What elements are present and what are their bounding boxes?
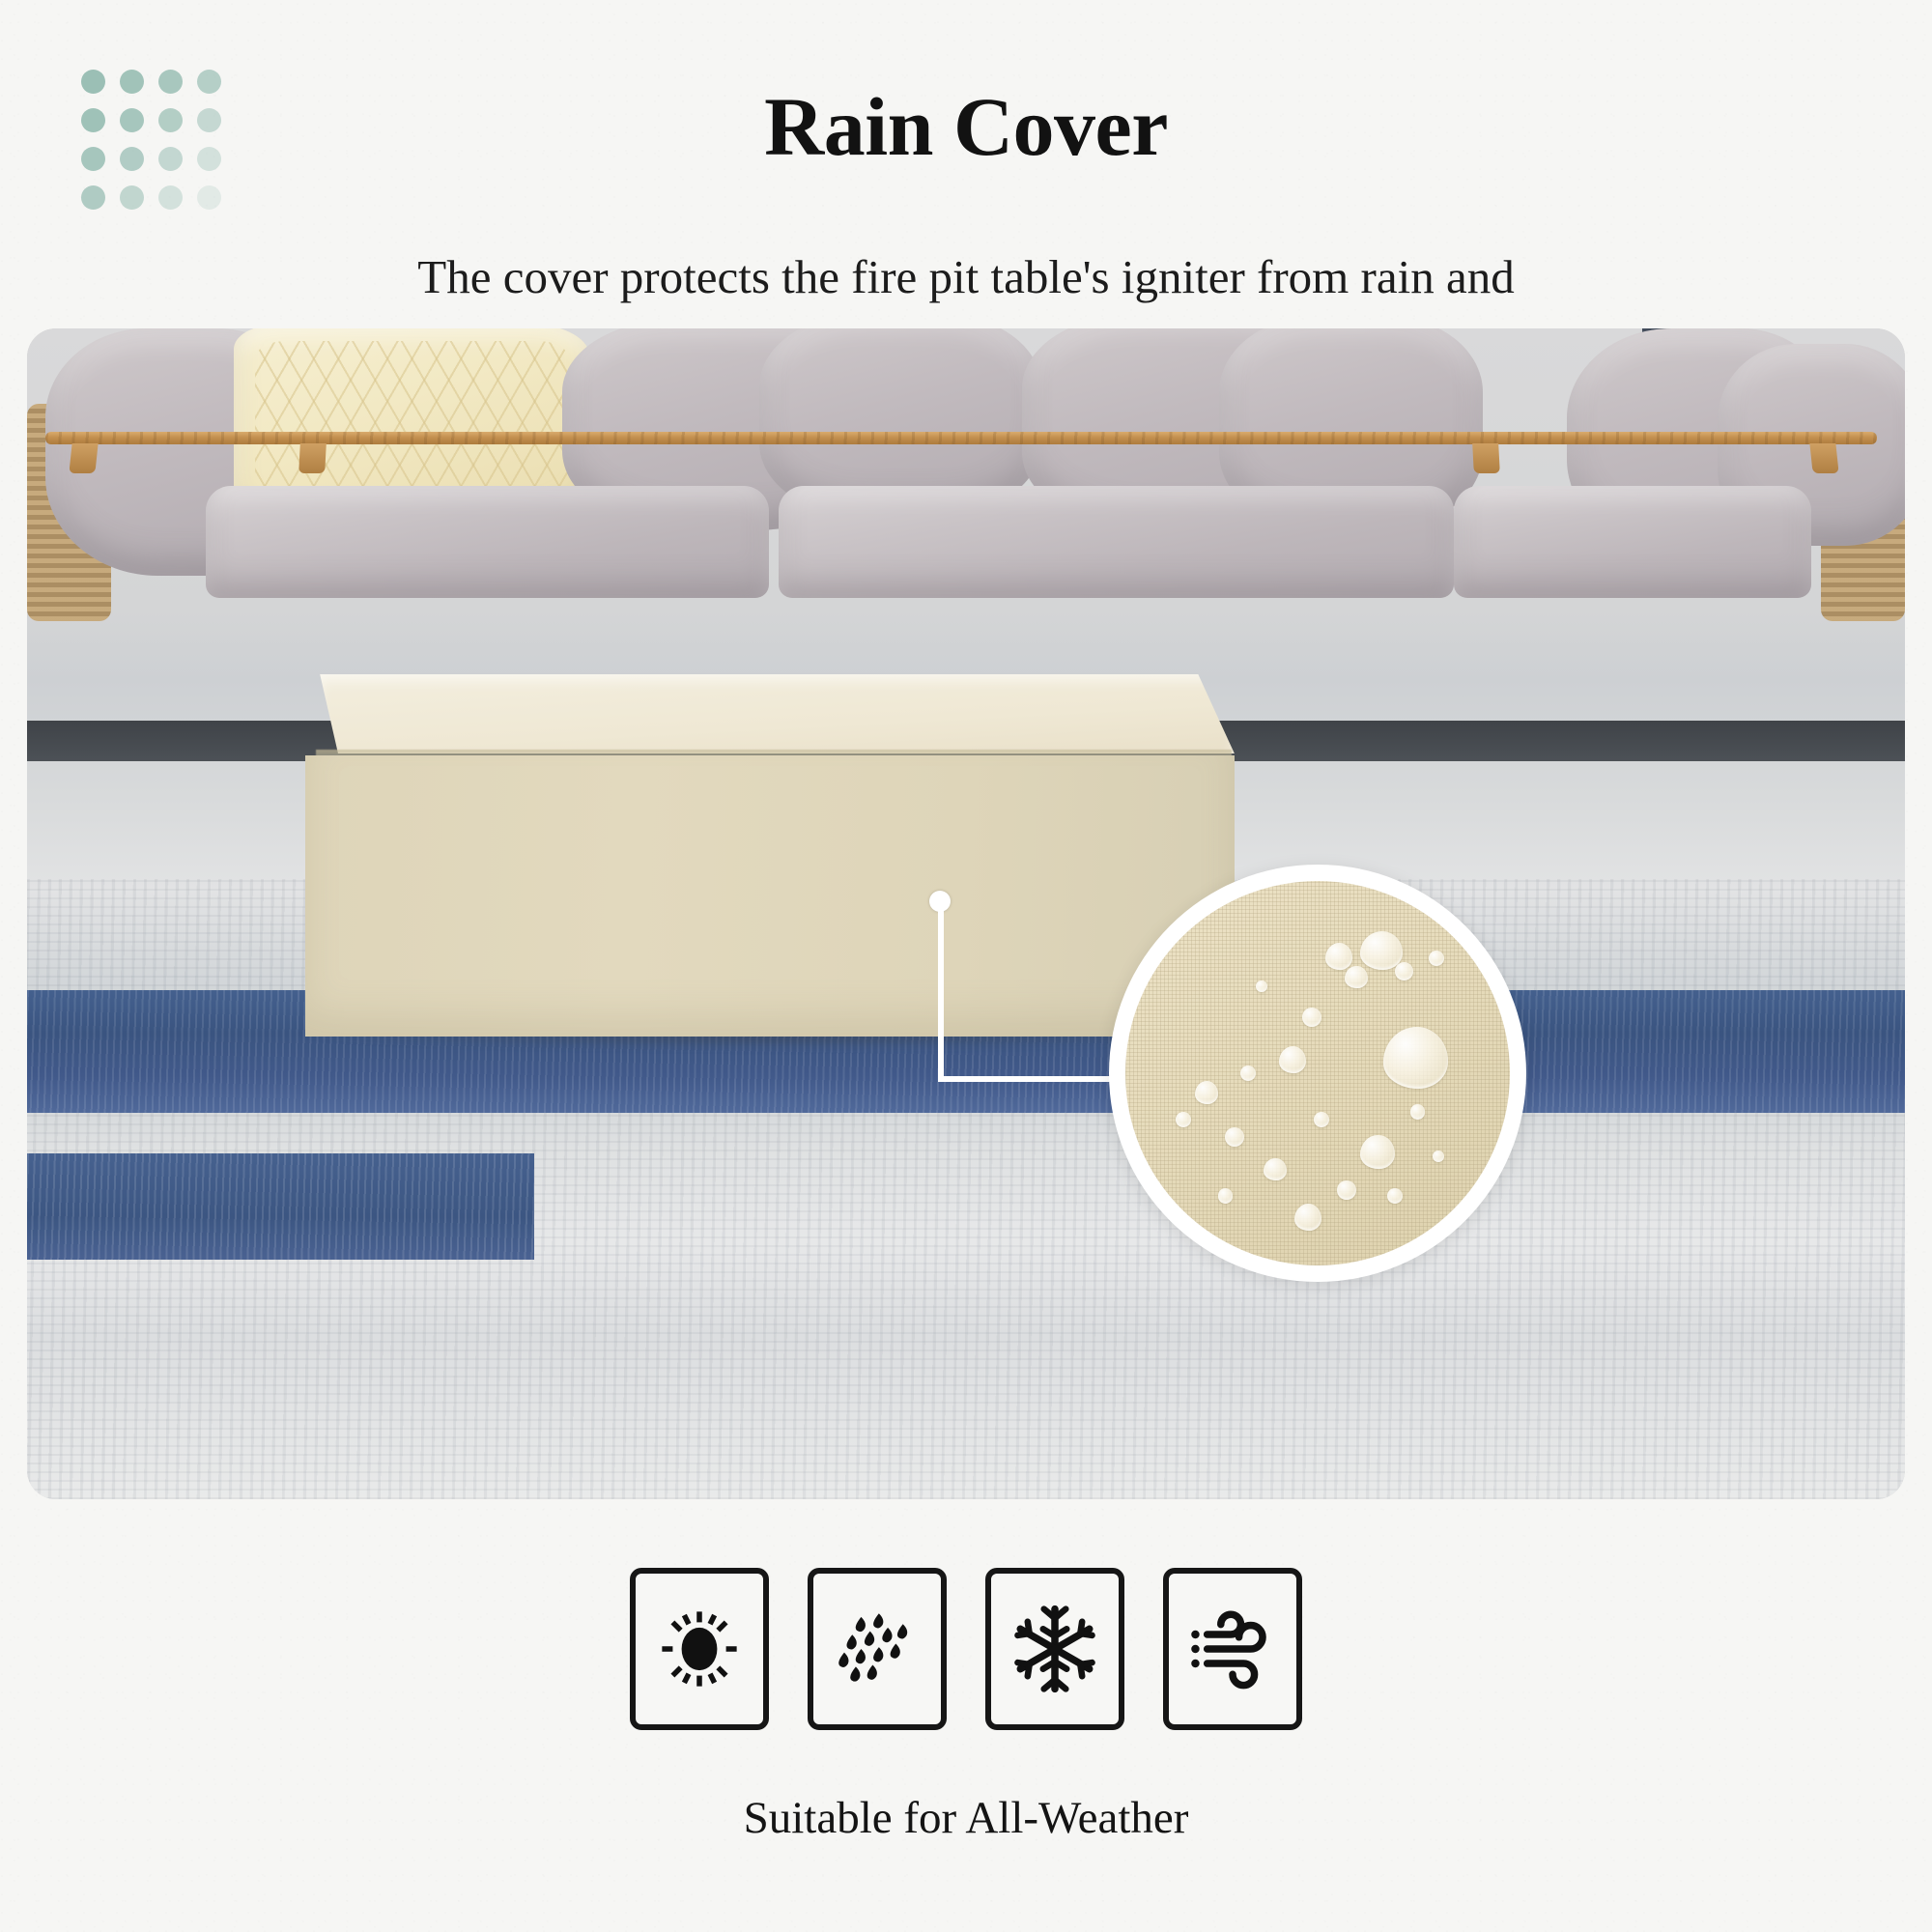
- water-bead: [1240, 1065, 1256, 1081]
- water-bead: [1176, 1112, 1191, 1127]
- grid-dot: [158, 185, 183, 210]
- weather-icon-row: [630, 1568, 1302, 1730]
- water-bead: [1395, 962, 1414, 981]
- water-bead: [1195, 1081, 1218, 1104]
- sofa-leg: [69, 443, 98, 473]
- sofa-seat-cushion: [779, 486, 1455, 598]
- callout-line-horizontal: [938, 1076, 1114, 1082]
- water-repellent-fabric-closeup: [1109, 865, 1526, 1282]
- feature-card-rain: [808, 1568, 947, 1730]
- sofa-leg: [1472, 443, 1500, 473]
- rain-icon: [833, 1605, 922, 1693]
- grid-dot: [197, 185, 221, 210]
- water-bead: [1360, 931, 1403, 970]
- water-bead: [1360, 1135, 1395, 1170]
- snowflake-icon: [1009, 1604, 1100, 1694]
- page-title: Rain Cover: [0, 85, 1932, 168]
- water-bead: [1429, 951, 1444, 966]
- fabric-texture: [1125, 881, 1510, 1265]
- water-bead: [1294, 1204, 1321, 1231]
- callout-line-vertical: [938, 910, 944, 1082]
- water-bead: [1264, 1158, 1287, 1181]
- rug-blue-stripe-secondary: [27, 1153, 534, 1259]
- sofa-seat-cushion: [206, 486, 769, 598]
- water-bead: [1337, 1180, 1356, 1200]
- water-bead: [1218, 1188, 1234, 1204]
- cover-front-panel: [305, 755, 1235, 1037]
- all-weather-caption: Suitable for All-Weather: [0, 1792, 1932, 1844]
- grid-dot: [81, 185, 105, 210]
- cover-top-panel: [320, 674, 1235, 754]
- sofa-seat-cushion: [1454, 486, 1810, 598]
- feature-card-snow: [985, 1568, 1124, 1730]
- water-bead: [1433, 1151, 1444, 1162]
- water-bead: [1387, 1188, 1403, 1204]
- sun-icon: [655, 1605, 744, 1693]
- water-bead: [1279, 1046, 1306, 1073]
- water-bead: [1302, 1008, 1321, 1027]
- feature-card-sun: [630, 1568, 769, 1730]
- water-bead: [1225, 1127, 1244, 1147]
- rain-cover-product: [305, 674, 1235, 1037]
- callout-pin: [929, 891, 951, 912]
- infographic-page: Rain Cover The cover protects the fire p…: [0, 0, 1932, 1932]
- water-bead: [1410, 1104, 1426, 1120]
- grid-dot: [120, 185, 144, 210]
- wind-icon: [1187, 1604, 1278, 1694]
- water-bead: [1383, 1027, 1449, 1089]
- water-bead: [1256, 980, 1267, 992]
- feature-card-wind: [1163, 1568, 1302, 1730]
- sofa-leg: [1809, 443, 1838, 473]
- water-bead: [1345, 966, 1368, 989]
- sofa: [27, 328, 1905, 703]
- sofa-wood-frame: [45, 432, 1876, 444]
- water-bead: [1325, 943, 1352, 970]
- water-bead: [1314, 1112, 1329, 1127]
- lifestyle-photo: [27, 328, 1905, 1499]
- sofa-leg: [298, 443, 327, 473]
